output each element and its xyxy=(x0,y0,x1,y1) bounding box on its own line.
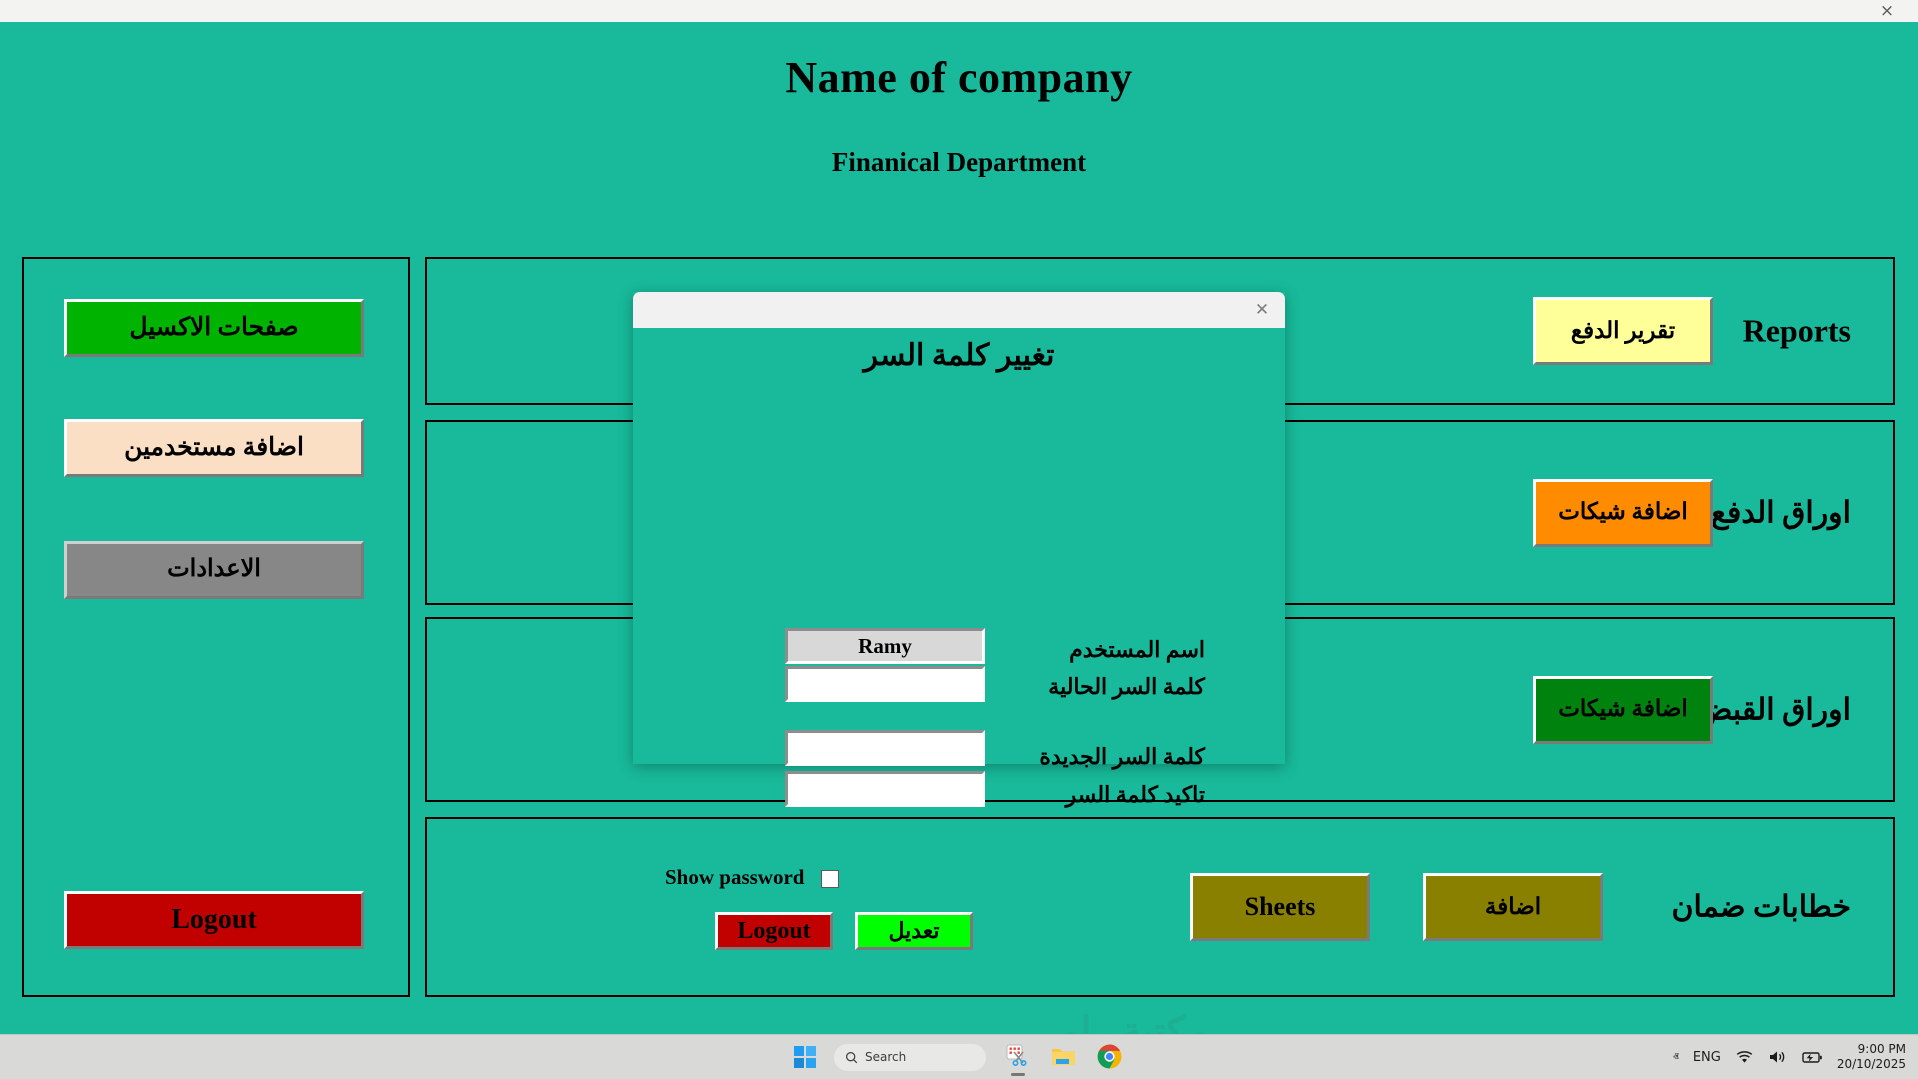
volume-icon[interactable] xyxy=(1768,1049,1787,1065)
snipping-tool-icon[interactable] xyxy=(1004,1043,1032,1071)
clock[interactable]: 9:00 PM 20/10/2025 xyxy=(1837,1042,1906,1072)
file-explorer-icon[interactable] xyxy=(1050,1043,1078,1071)
window-close-button[interactable]: × xyxy=(1870,1,1904,21)
window-title-bar: × xyxy=(0,0,1918,23)
field-confirm-password[interactable] xyxy=(785,771,985,807)
taskbar: Search xyxy=(0,1034,1918,1079)
taskbar-apps: Search xyxy=(794,1035,1124,1079)
application-window: × Name of company Finanical Department ص… xyxy=(0,0,1918,1078)
field-new-password[interactable] xyxy=(785,730,985,766)
dialog-title-bar: ✕ xyxy=(633,292,1285,328)
clock-time: 9:00 PM xyxy=(1837,1042,1906,1057)
dialog-title: تغيير كلمة السر xyxy=(633,338,1285,373)
app-running-indicator xyxy=(1011,1073,1025,1076)
show-hidden-icons-icon[interactable]: ⱏ xyxy=(1673,1050,1679,1065)
wifi-icon[interactable] xyxy=(1735,1049,1754,1065)
field-label-confirm-password: تاكيد كلمة السر xyxy=(1005,782,1205,808)
field-label-current-password: كلمة السر الحالية xyxy=(1005,674,1205,700)
dialog-logout-button[interactable]: Logout xyxy=(715,912,833,950)
field-current-password[interactable] xyxy=(785,666,985,702)
battery-charging-icon[interactable] xyxy=(1801,1049,1823,1065)
dialog-edit-button[interactable]: تعديل xyxy=(855,912,973,950)
show-password-label: Show password xyxy=(665,865,804,890)
search-placeholder-text: Search xyxy=(865,1050,906,1064)
modal-overlay: ✕ تغيير كلمة السر اسم المستخدم كلمة السر… xyxy=(0,22,1918,1034)
field-label-new-password: كلمة السر الجديدة xyxy=(1005,744,1205,770)
system-tray: ⱏ ENG 9:00 PM 20/10/2025 xyxy=(1673,1035,1906,1079)
search-icon xyxy=(845,1051,858,1064)
start-icon[interactable] xyxy=(794,1046,816,1068)
show-password-checkbox[interactable] xyxy=(821,870,839,888)
chrome-icon[interactable] xyxy=(1096,1043,1124,1071)
dialog-close-icon[interactable]: ✕ xyxy=(1249,298,1275,322)
app-canvas: Name of company Finanical Department صفح… xyxy=(0,22,1918,1034)
language-indicator[interactable]: ENG xyxy=(1693,1050,1721,1065)
field-label-username: اسم المستخدم xyxy=(1005,637,1205,663)
clock-date: 20/10/2025 xyxy=(1837,1057,1906,1072)
change-password-dialog: ✕ تغيير كلمة السر اسم المستخدم كلمة السر… xyxy=(633,292,1285,764)
field-username[interactable] xyxy=(785,628,985,664)
search-input[interactable]: Search xyxy=(834,1044,986,1071)
